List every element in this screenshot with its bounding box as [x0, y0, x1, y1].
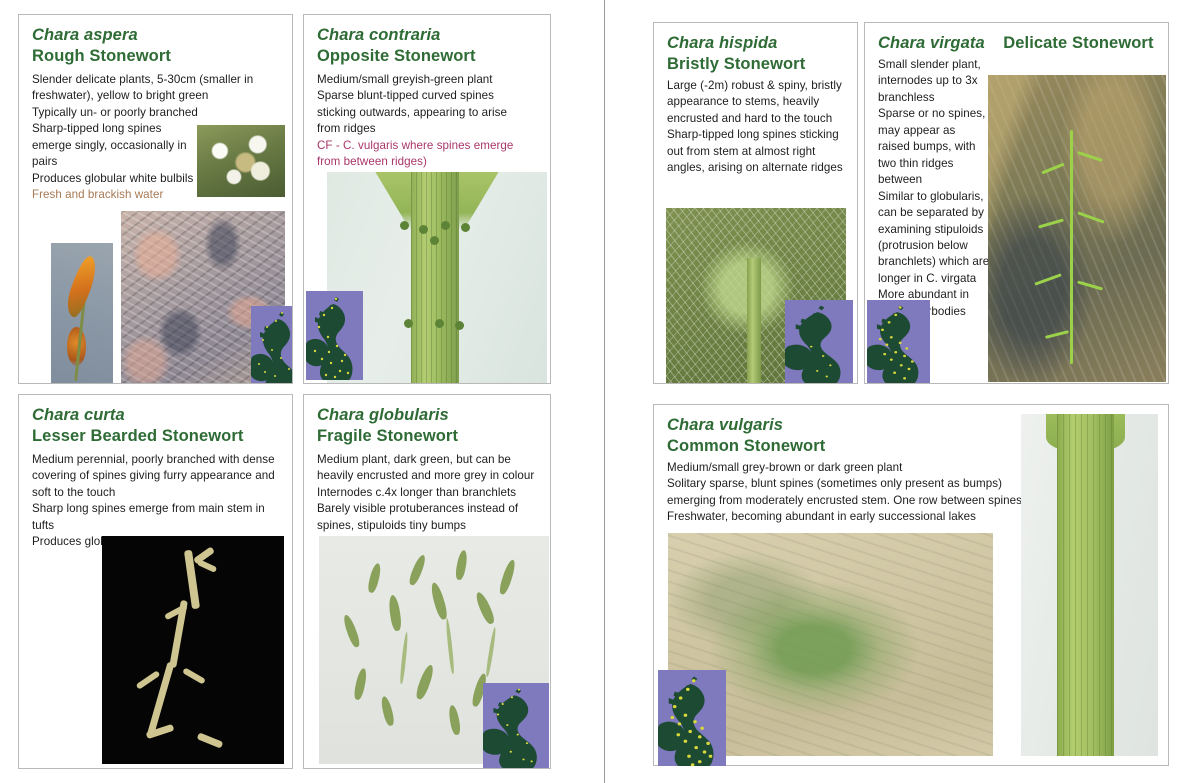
- photo-white-bulbils-closeup: [197, 125, 285, 197]
- card-description: Medium plant, dark green, but can be hea…: [317, 452, 539, 534]
- species-card-chara-aspera[interactable]: Chara aspera Rough Stonewort Slender del…: [18, 14, 293, 384]
- common-name: Fragile Stonewort: [317, 426, 542, 447]
- card-description: Medium/small greyish-green plant Sparse …: [317, 72, 532, 171]
- description-line: Medium/small greyish-green plant: [317, 72, 532, 88]
- page-divider: [604, 0, 605, 783]
- distribution-map-chara-contraria-overlay: [306, 291, 363, 380]
- description-line: Similar to globularis, can be separated …: [878, 189, 990, 288]
- common-name: Lesser Bearded Stonewort: [32, 426, 284, 447]
- common-name: Opposite Stonewort: [317, 46, 542, 67]
- description-line: Medium/small grey-brown or dark green pl…: [667, 460, 1027, 476]
- description-line: Solitary sparse, blunt spines (sometimes…: [667, 476, 1027, 509]
- card-description: Medium/small grey-brown or dark green pl…: [667, 460, 1027, 526]
- scientific-name: Chara globularis: [317, 405, 542, 426]
- card-titles: Chara aspera Rough Stonewort: [32, 25, 284, 68]
- card-titles: Chara contraria Opposite Stonewort: [317, 25, 542, 68]
- scientific-name: Chara virgata: [878, 33, 985, 54]
- description-line: Typically un- or poorly branched: [32, 105, 276, 121]
- species-card-chara-vulgaris[interactable]: Chara vulgaris Common Stonewort Medium/s…: [653, 404, 1169, 766]
- description-line: Barely visible protuberances instead of …: [317, 501, 539, 534]
- description-line: Slender delicate plants, 5-30cm (smaller…: [32, 72, 276, 105]
- description-line: Medium perennial, poorly branched with d…: [32, 452, 282, 501]
- distribution-map-chara-aspera: [251, 306, 293, 384]
- description-line: Sparse or no spines, may appear as raise…: [878, 106, 990, 188]
- description-line: Sharp-tipped long spines emerge singly, …: [32, 121, 202, 170]
- description-line: Large (-2m) robust & spiny, bristly appe…: [667, 78, 849, 127]
- description-line: Sharp long spines emerge from main stem …: [32, 501, 282, 534]
- description-line: Freshwater, becoming abundant in early s…: [667, 509, 1027, 525]
- distribution-map-chara-virgata: [867, 300, 930, 383]
- common-name: Delicate Stonewort: [1003, 33, 1153, 54]
- description-line: Medium plant, dark green, but can be hea…: [317, 452, 539, 485]
- common-name: Rough Stonewort: [32, 46, 284, 67]
- description-line: Sharp-tipped long spines sticking out fr…: [667, 127, 849, 176]
- distribution-map-chara-hispida: [785, 300, 853, 383]
- distribution-map-chara-vulgaris: [658, 670, 726, 766]
- description-line: Sparse blunt-tipped curved spines sticki…: [317, 88, 532, 137]
- photo-green-stem-closeup: [1021, 414, 1158, 756]
- scientific-name: Chara curta: [32, 405, 284, 426]
- common-name: Bristly Stonewort: [667, 54, 849, 75]
- card-description: Small slender plant, internodes up to 3x…: [878, 57, 990, 320]
- card-titles: Chara virgata Delicate Stonewort: [878, 33, 1160, 54]
- description-line: Small slender plant, internodes up to 3x…: [878, 57, 990, 106]
- description-line-comparison: CF - C. vulgaris where spines emerge fro…: [317, 138, 532, 171]
- card-titles: Chara globularis Fragile Stonewort: [317, 405, 542, 448]
- photo-virgata-in-habitat: [988, 75, 1166, 382]
- distribution-map-chara-globularis: [483, 683, 549, 768]
- photo-specimen-on-black-background: [102, 536, 284, 764]
- scientific-name: Chara aspera: [32, 25, 284, 46]
- scientific-name: Chara contraria: [317, 25, 542, 46]
- photo-orange-oogonia-plant: [51, 243, 113, 384]
- description-line: Internodes c.4x longer than branchlets: [317, 485, 539, 501]
- scientific-name: Chara hispida: [667, 33, 849, 54]
- species-card-chara-curta[interactable]: Chara curta Lesser Bearded Stonewort Med…: [18, 394, 293, 769]
- card-titles: Chara curta Lesser Bearded Stonewort: [32, 405, 284, 448]
- card-description: Large (-2m) robust & spiny, bristly appe…: [667, 78, 849, 177]
- card-titles: Chara hispida Bristly Stonewort: [667, 33, 849, 76]
